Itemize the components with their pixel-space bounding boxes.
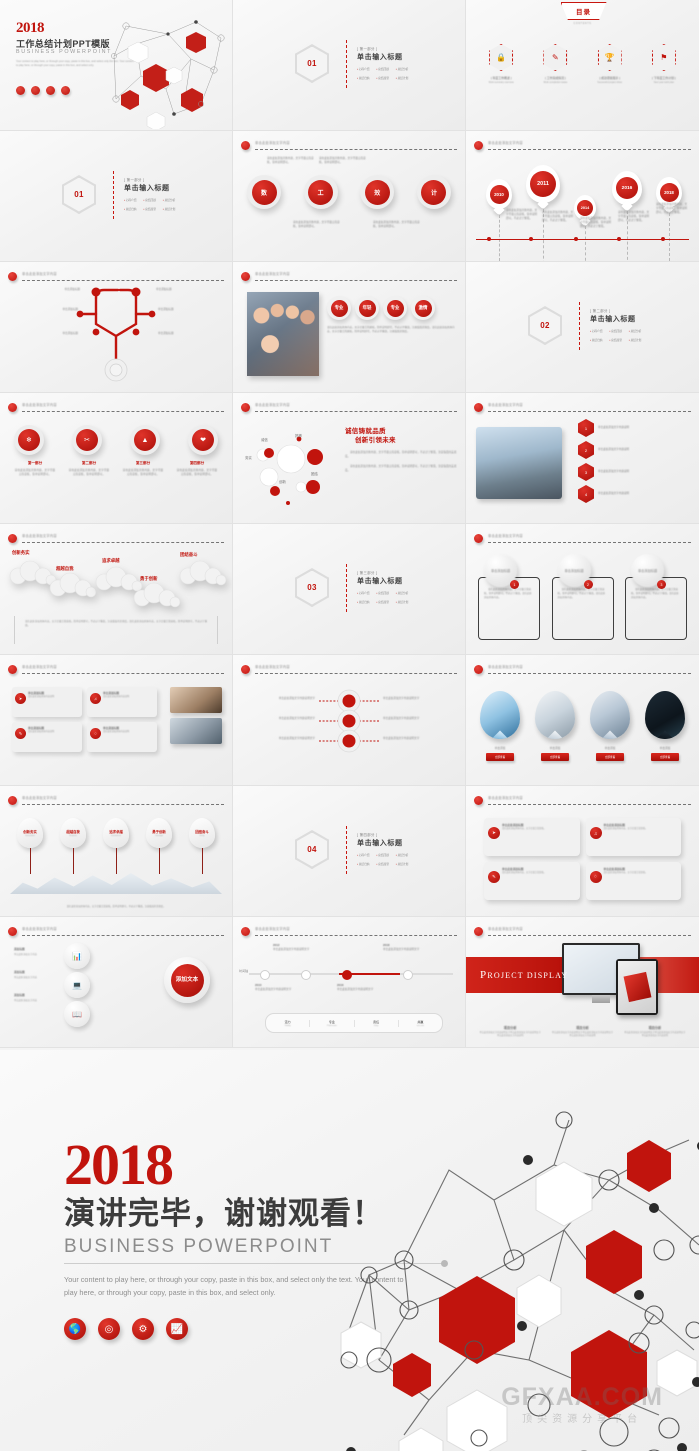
circle-flow-graphic xyxy=(233,655,466,786)
divider-bullet: 总结计划 xyxy=(629,338,641,342)
slide-header-label: 单击此处添加文字内容 xyxy=(255,926,290,931)
chart-icon[interactable]: 📊 xyxy=(64,943,90,969)
timeline-year: 2016 xyxy=(616,177,638,199)
mountain-caption: 请在此处添加具体内容，文字尽量言简意赅，简单说明即可，不必过于繁琐，注意版面的美… xyxy=(36,906,196,910)
three-card-row: 单击添加标题 1 请在此处添加具体内容，文字尽量言简意赅，简单说明即可，不必过于… xyxy=(478,554,687,640)
divider-title: 单击输入标题 xyxy=(357,576,408,586)
htimeline-label: 2012 单击此处添加文字内容说明文字 xyxy=(273,943,313,952)
add-text-button[interactable]: 添加文本 xyxy=(164,957,210,1003)
cloud-label: 团结奋斗 xyxy=(180,552,198,558)
globe-icon xyxy=(16,86,25,95)
mountain-pin[interactable]: 创新务实 Innovation xyxy=(12,818,48,874)
addtext-node-column: 📊 💻 📖 xyxy=(64,943,90,1027)
circleflow-caption: 单击此处添加文字内容说明文字 xyxy=(271,697,315,701)
slide-header-label: 单击此处添加文字内容 xyxy=(488,664,523,669)
tree-label: 单击添加标题 xyxy=(38,332,78,336)
feature-card[interactable]: ➤ 单击此处添加标题 请在此处添加具体内容，文字尽量言简意赅。 xyxy=(484,818,580,856)
slide-thumb-balloon-photos[interactable]: 单击此处添加文字内容 单击添加 立即查看 单击添加 立即查看 单击添加 立即查 xyxy=(466,655,699,786)
icon-circle-body: 请在此处添加具体内容，文字尽量言简意赅，简单说明即可。 xyxy=(176,469,218,477)
divider-bullet: 总结回顾 xyxy=(376,853,388,857)
header-dot-icon xyxy=(8,403,17,412)
slide-thumb-mountain-pins[interactable]: 单击此处添加文字内容 创新务实 Innovation 超越自我 Surpass … xyxy=(0,786,233,917)
header-dot-icon xyxy=(474,534,483,543)
card-body: 请在此处添加具体内容，文字尽量言简意赅，简单说明即可，不必过于繁琐。请在此处添加… xyxy=(558,588,608,600)
slide-thumb-four-circles[interactable]: 单击此处添加文字内容 数 工 效 计 请在此处添加具体内容，文字尽量言简意赅，简… xyxy=(233,131,466,262)
divider-bullets-row1: 心得介绍 总结回顾 总结分析 xyxy=(357,591,408,595)
hex-list-item[interactable]: 4 单击此处添加文字内容说明 xyxy=(578,485,629,503)
balloon-photo xyxy=(535,691,575,739)
divider-bullet: 总结回顾 xyxy=(376,67,388,71)
cup-icon: ♢ xyxy=(590,871,602,883)
balloon-photo-button[interactable]: 立即查看 xyxy=(651,753,679,761)
pin-sub: Innovation xyxy=(25,835,35,837)
slide-thumb-horizontal-timeline[interactable]: 单击此处添加文字内容 时间轴 2012 单击此处添加文字内容说明文字 2018 … xyxy=(233,917,466,1048)
header-dot-icon xyxy=(8,927,17,936)
divider-title: 单击输入标题 xyxy=(590,314,641,324)
divider-bullets-row1: 心得介绍 总结回顾 总结分析 xyxy=(357,853,408,857)
timeline-axis xyxy=(476,239,689,240)
pill-bar: 活力 Vitality 专业 Profession 责任 Duty 共赢 Win… xyxy=(265,1013,443,1033)
mountain-pin[interactable]: 超越自我 Surpass xyxy=(55,818,91,874)
divider-bullets-row2: 总结归纳 总结展望 总结计划 xyxy=(357,76,408,80)
mountain-pin-row: 创新务实 Innovation 超越自我 Surpass 追求卓越 Excell… xyxy=(12,818,220,874)
toc-item-label: [ 工作完成情况 ] xyxy=(531,76,579,80)
header-dot-icon xyxy=(474,665,483,674)
slide-thumb-quote[interactable]: 单击此处添加文字内容 诚信 务实 拼搏 创新 团结 诚信铸就品质 xyxy=(233,393,466,524)
chart-icon[interactable]: 📈 xyxy=(166,1318,188,1340)
divider-number-hex: 02 xyxy=(528,306,562,345)
header-divider xyxy=(488,935,691,936)
feature-card-title: 单击此处添加标题 xyxy=(502,867,575,871)
balloon-photo xyxy=(645,691,685,739)
circle-item[interactable]: ❤ xyxy=(188,425,218,455)
balloon-photo-button[interactable]: 立即查看 xyxy=(486,753,514,761)
icon-card-title: 单击添加标题 xyxy=(28,691,78,695)
divider-bullet: 总结分析 xyxy=(396,853,408,857)
mountain-pin[interactable]: 追求卓越 Excellence xyxy=(98,818,134,874)
scenic-photo xyxy=(476,427,562,499)
bubble-label: 务实 xyxy=(245,455,252,460)
divider-bullet: 总结归纳 xyxy=(357,600,369,604)
ppt-template-preview-page: 2018 工作总结计划PPT模版 BUSINESS POWERPOINT You… xyxy=(0,0,699,1451)
icon-card-body: 请在此处添加具体内容说明 xyxy=(28,731,78,734)
htimeline-axis-label: 时间轴 xyxy=(239,969,248,973)
slide-thumb-clouds[interactable]: 单击此处添加文字内容 xyxy=(0,524,233,655)
hero-icon-row: 🌎 ◎ ⚙ 📈 xyxy=(64,1318,188,1340)
feature-card-body: 请在此处添加具体内容，文字尽量言简意赅。 xyxy=(604,872,677,876)
header-dot-icon xyxy=(8,534,17,543)
info-card[interactable]: 单击添加标题 3 请在此处添加具体内容，文字尽量言简意赅，简单说明即可，不必过于… xyxy=(625,554,687,640)
pill-segment[interactable]: 活力 Vitality xyxy=(266,1020,310,1027)
hex-list-item[interactable]: 3 单击此处添加文字内容说明 xyxy=(578,463,629,481)
divider-bullets-row2: 总结归纳 总结展望 总结计划 xyxy=(357,600,408,604)
header-divider xyxy=(488,542,691,543)
globe-icon[interactable]: 🌎 xyxy=(64,1318,86,1340)
slide-thumb-team[interactable]: 单击此处添加文字内容 专业 年轻 专业 激情 请在此处添加具体内容，文字尽量言简… xyxy=(233,262,466,393)
trophy-icon: 🏆 xyxy=(598,44,622,71)
addtext-caption: 添加标题 单击此处添加文字内容 xyxy=(14,947,37,956)
divider-bullets-row1: 心得介绍 总结回顾 总结分析 xyxy=(590,329,641,333)
team-tag[interactable]: 激情 xyxy=(411,296,435,320)
divider-kicker: [ 第一部分 ] xyxy=(357,46,408,51)
divider-bullet: 心得介绍 xyxy=(357,591,369,595)
bubble-label: 诚信 xyxy=(261,437,268,442)
slide-thumb-divider-04[interactable]: 04 [ 第四部分 ] 单击输入标题 心得介绍 总结回顾 总结分析 总结归纳 总… xyxy=(233,786,466,917)
leaf-icon: ❄ xyxy=(18,429,40,451)
hex-list-text: 单击此处添加文字内容说明 xyxy=(598,426,629,430)
hex-list-item[interactable]: 2 单击此处添加文字内容说明 xyxy=(578,441,629,459)
rocket-icon: ▲ xyxy=(134,429,156,451)
team-tag[interactable]: 专业 xyxy=(383,296,407,320)
divider-bullet: 心得介绍 xyxy=(357,67,369,71)
divider-bullet: 总结展望 xyxy=(609,338,621,342)
balloon-photo xyxy=(590,691,630,739)
balloon-photo xyxy=(480,691,520,739)
bubble-label: 拼搏 xyxy=(295,433,302,438)
photo-thumbnail xyxy=(170,718,222,744)
toc-item[interactable]: 🏆 [ 成功项目展示 ] Successful project show xyxy=(586,44,634,84)
quote-title-line1: 诚信铸就品质 xyxy=(345,427,457,436)
info-card[interactable]: 单击添加标题 1 请在此处添加具体内容，文字尽量言简意赅，简单说明即可，不必过于… xyxy=(478,554,540,640)
slide-thumb-divider-01[interactable]: 01 [ 第一部分 ] 单击输入标题 心得介绍 总结回顾 总结分析 总结归纳 总… xyxy=(233,0,466,131)
pen-icon: ✎ xyxy=(543,44,567,71)
pin-title: 勇于创新 xyxy=(152,829,166,834)
divider-number: 03 xyxy=(297,571,327,605)
slide-header-label: 单击此处添加文字内容 xyxy=(22,533,57,538)
divider-number-hex: 03 xyxy=(295,568,329,607)
toc-item-label: [ 下年度工作计划 ] xyxy=(640,76,688,80)
divider-number: 01 xyxy=(297,47,327,81)
slide-header-label: 单击此处添加文字内容 xyxy=(488,533,523,538)
timeline-marker[interactable]: 2011 xyxy=(526,165,560,203)
music-icon: ♫ xyxy=(590,827,602,839)
htimeline-label: 2010 单击此处添加文字内容说明文字 xyxy=(255,983,295,992)
toc-item[interactable]: 🔒 [ 年度工作概述 ] Work summary overview xyxy=(477,44,525,84)
gear-icon[interactable]: ⚙ xyxy=(132,1318,154,1340)
hex-bullet-icon: 4 xyxy=(578,485,594,503)
header-divider xyxy=(22,542,224,543)
divider-text: [ 第二部分 ] 单击输入标题 心得介绍 总结回顾 总结分析 总结归纳 总结展望… xyxy=(590,308,641,342)
slide-header: 单击此处添加文字内容 xyxy=(474,926,691,938)
circle-icon: 效 xyxy=(365,180,390,205)
toc-banner-label: 目录 xyxy=(576,6,591,16)
pill-segment[interactable]: 专业 Profession xyxy=(310,1020,354,1027)
cloud-body: 请在此处添加具体内容，文字尽量言简意赅，简单说明即可，不必过于繁琐，注意版面的美… xyxy=(15,616,217,632)
toc-item-sub: Work summary overview xyxy=(477,82,525,84)
header-divider xyxy=(255,280,457,281)
target-icon[interactable]: ◎ xyxy=(98,1318,120,1340)
circle-caption: 请在此处添加具体内容，文字尽量言简意赅，简单说明即可。 xyxy=(293,221,343,229)
header-divider xyxy=(22,411,224,412)
project-column: 项目分析 单击此处添加文字内容说明文字单击此处添加文字内容说明文字单击此处添加文… xyxy=(479,1025,541,1039)
htimeline-label: 2016 单击此处添加文字内容说明文字 xyxy=(337,983,377,992)
pen-icon: ✎ xyxy=(488,871,500,883)
icon-card[interactable]: ✎ 单击添加标题 请在此处添加具体内容说明 xyxy=(12,722,82,752)
toc-items: 🔒 [ 年度工作概述 ] Work summary overview ✎ [ 工… xyxy=(474,44,691,84)
divider-bullet: 总结展望 xyxy=(376,862,388,866)
project-title: PROJECT DISPLAY xyxy=(480,969,568,981)
slide-header-label: 单击此处添加文字内容 xyxy=(488,140,523,145)
project-column-body: 单击此处添加文字内容说明文字单击此处添加文字内容说明文字单击此处添加文字内容说明 xyxy=(624,1032,686,1039)
header-divider xyxy=(255,411,457,412)
info-card[interactable]: 单击添加标题 2 请在此处添加具体内容，文字尽量言简意赅，简单说明即可，不必过于… xyxy=(552,554,614,640)
timeline-marker[interactable]: 2016 xyxy=(612,171,642,205)
circle-item[interactable]: 工 xyxy=(304,175,338,209)
circleflow-caption: 单击此处添加文字内容说明文字 xyxy=(383,697,427,701)
team-tag[interactable]: 年轻 xyxy=(355,296,379,320)
balloon-photo-item[interactable]: 单击添加 立即查看 xyxy=(533,691,577,761)
team-photo xyxy=(247,292,319,376)
slide-thumb-circle-flow[interactable]: 单击此处添加文字内容 单击此处添加文字内容说明文字 单击此处添加文字内容说明文字… xyxy=(233,655,466,786)
balloon-photo-label: 单击添加 xyxy=(588,746,632,750)
card-badge: 2 xyxy=(584,580,593,589)
slide-thumb-divider-01-alt[interactable]: 01 [ 第一部分 ] 单击输入标题 心得介绍 总结回顾 总结分析 总结归纳 总… xyxy=(0,131,233,262)
divider-bullet: 心得介绍 xyxy=(357,853,369,857)
hex-list-text: 单击此处添加文字内容说明 xyxy=(598,448,629,452)
divider-bullet: 总结分析 xyxy=(396,591,408,595)
divider-rule xyxy=(346,826,347,874)
divider-kicker: [ 第三部分 ] xyxy=(357,570,408,575)
project-column-body: 单击此处添加文字内容说明文字单击此处添加文字内容说明文字单击此处添加文字内容说明 xyxy=(479,1032,541,1039)
icon-card-title: 单击添加标题 xyxy=(103,691,153,695)
divider-bullet: 总结归纳 xyxy=(590,338,602,342)
slide-thumb-three-cards[interactable]: 单击此处添加文字内容 单击添加标题 1 请在此处添加具体内容，文字尽量言简意赅，… xyxy=(466,524,699,655)
timeline-caption: 请在此处添加具体内容，文字尽量言简意赅，简单说明即可，不必过于繁琐。 xyxy=(580,217,612,229)
slide-header: 单击此处添加文字内容 xyxy=(8,402,224,414)
toc-item[interactable]: ✎ [ 工作完成情况 ] Work completion status xyxy=(531,44,579,84)
circle-item[interactable]: 计 xyxy=(417,175,451,209)
balloon-photo-button[interactable]: 立即查看 xyxy=(541,753,569,761)
icon-card-title: 单击添加标题 xyxy=(28,726,78,730)
hero-subhead: BUSINESS POWERPOINT xyxy=(64,1236,333,1258)
feature-card[interactable]: ♢ 单击此处添加标题 请在此处添加具体内容，文字尽量言简意赅。 xyxy=(586,862,682,900)
mountain-pin[interactable]: 团结奋斗 Unity xyxy=(184,818,220,874)
cloud-label: 超越自我 xyxy=(56,566,74,572)
slide-thumb-year-timeline[interactable]: 单击此处添加文字内容 2010 2011 2014 2016 xyxy=(466,131,699,262)
timeline-year: 2014 xyxy=(577,200,593,216)
icon-circle-title: 第一部分 xyxy=(14,461,56,466)
feature-card[interactable]: ✎ 单击此处添加标题 请在此处添加具体内容，文字尽量言简意赅。 xyxy=(484,862,580,900)
project-column-body: 单击此处添加文字内容说明文字单击此处添加文字内容说明文字单击此处添加文字内容说明 xyxy=(551,1032,613,1039)
project-column-title: 项目分析 xyxy=(551,1025,613,1030)
toc-item-label: [ 年度工作概述 ] xyxy=(477,76,525,80)
pill-segment[interactable]: 共赢 Win-win xyxy=(399,1020,442,1027)
feature-card-title: 单击此处添加标题 xyxy=(604,867,677,871)
circle-item[interactable]: 数 xyxy=(247,175,281,209)
project-column-title: 项目分析 xyxy=(479,1025,541,1030)
slide-thumb-cover[interactable]: 2018 工作总结计划PPT模版 BUSINESS POWERPOINT You… xyxy=(0,0,233,131)
project-title-rest: ROJECT DISPLAY xyxy=(487,971,568,980)
divider-bullet: 总结分析 xyxy=(163,198,175,202)
cloud-shape xyxy=(176,560,228,586)
hex-list-text: 单击此处添加文字内容说明 xyxy=(598,470,629,474)
team-tag[interactable]: 专业 xyxy=(327,296,351,320)
divider-bullets-row2: 总结归纳 总结展望 总结计划 xyxy=(357,862,408,866)
feature-card-title: 单击此处添加标题 xyxy=(502,823,575,827)
slide-header: 单击此处添加文字内容 xyxy=(8,926,224,938)
pin-sub: Excellence xyxy=(111,835,121,837)
lock-icon: 🔒 xyxy=(489,44,513,71)
card-badge: 3 xyxy=(657,580,666,589)
card-body: 请在此处添加具体内容，文字尽量言简意赅，简单说明即可，不必过于繁琐。请在此处添加… xyxy=(484,588,534,600)
bubble-cluster-graphic xyxy=(243,425,343,509)
send-icon: ➤ xyxy=(15,693,26,704)
circleflow-caption: 单击此处添加文字内容说明文字 xyxy=(383,717,427,721)
divider-bullet: 总结展望 xyxy=(376,76,388,80)
divider-bullet: 总结计划 xyxy=(396,862,408,866)
header-divider xyxy=(22,935,224,936)
addtext-caption-body: 单击此处添加文字内容 xyxy=(14,998,37,1002)
slide-thumb-tree-flow[interactable]: 单击此处添加文字内容 xyxy=(0,262,233,393)
balloon-photo-item[interactable]: 单击添加 立即查看 xyxy=(588,691,632,761)
timeline-year: 2010 xyxy=(490,185,509,204)
header-divider xyxy=(22,804,224,805)
slide-thumb-divider-03[interactable]: 03 [ 第三部分 ] 单击输入标题 心得介绍 总结回顾 总结分析 总结归纳 总… xyxy=(233,524,466,655)
pin-title: 团结奋斗 xyxy=(195,829,209,834)
htimeline-text: 单击此处添加文字内容说明文字 xyxy=(255,988,291,991)
bubble-label: 创新 xyxy=(279,479,286,484)
balloon-photo-label: 单击添加 xyxy=(533,746,577,750)
hexagon-network-graphic xyxy=(96,4,233,129)
hex-list-item[interactable]: 1 单击此处添加文字内容说明 xyxy=(578,419,629,437)
team-tag-row: 专业 年轻 专业 激情 xyxy=(327,296,457,320)
circle-item[interactable]: ✂ xyxy=(72,425,102,455)
divider-bullets-row1: 心得介绍 总结回顾 总结分析 xyxy=(357,67,408,71)
music-icon: ♫ xyxy=(90,693,101,704)
pin-sub: Surpass xyxy=(69,835,77,837)
slide-header: 单击此处添加文字内容 xyxy=(474,533,691,545)
slide-thumb-icon-cards[interactable]: 单击此处添加文字内容 ➤ 单击添加标题 请在此处添加具体内容说明 ♫ 单击添加标… xyxy=(0,655,233,786)
icon-card[interactable]: ♫ 单击添加标题 请在此处添加具体内容说明 xyxy=(87,687,157,717)
htimeline-text: 单击此处添加文字内容说明文字 xyxy=(273,948,309,951)
team-body: 请在此处添加具体内容，文字尽量言简意赅，简单说明即可，不必过于繁琐，注意版面美观… xyxy=(327,326,455,334)
slide-thumb-contents[interactable]: 目录 CONTENTS 🔒 [ 年度工作概述 ] Work summary ov… xyxy=(466,0,699,131)
timeline-marker[interactable]: 2010 xyxy=(486,179,512,209)
divider-bullets-row1: 心得介绍 总结回顾 总结分析 xyxy=(124,198,175,202)
divider-bullet: 总结归纳 xyxy=(124,207,136,211)
slide-thumb-hex-list[interactable]: 单击此处添加文字内容 1 单击此处添加文字内容说明 2 单击此处添加文字内容说明… xyxy=(466,393,699,524)
circle-item[interactable]: 效 xyxy=(360,175,394,209)
divider-title: 单击输入标题 xyxy=(357,838,408,848)
divider-bullet: 总结回顾 xyxy=(609,329,621,333)
tree-diagram-graphic xyxy=(0,262,233,393)
icon-circle-title: 第二部分 xyxy=(68,461,110,466)
toc-item-sub: Next year work plan xyxy=(640,82,688,84)
circle-item[interactable]: ▲ xyxy=(130,425,160,455)
heart-icon: ❤ xyxy=(192,429,214,451)
toc-banner-sub: CONTENTS xyxy=(561,22,605,25)
tree-label: 单击添加标题 xyxy=(158,308,198,312)
hex-list: 1 单击此处添加文字内容说明 2 单击此处添加文字内容说明 3 单击此处添加文字… xyxy=(578,419,629,507)
book-icon[interactable]: 📖 xyxy=(64,1001,90,1027)
circle-item[interactable]: ❄ xyxy=(14,425,44,455)
header-dot-icon xyxy=(241,403,250,412)
divider-number: 02 xyxy=(530,309,560,343)
project-column: 项目分析 单击此处添加文字内容说明文字单击此处添加文字内容说明文字单击此处添加文… xyxy=(624,1025,686,1039)
circle-caption: 请在此处添加具体内容，文字尽量言简意赅，简单说明即可。 xyxy=(267,157,317,165)
card-badge: 1 xyxy=(510,580,519,589)
slide-header: 单击此处添加文字内容 xyxy=(8,533,224,545)
project-column-title: 项目分析 xyxy=(624,1025,686,1030)
hex-list-text: 单击此处添加文字内容说明 xyxy=(598,492,629,496)
toc-item[interactable]: ⚑ [ 下年度工作计划 ] Next year work plan xyxy=(640,44,688,84)
pill-segment[interactable]: 责任 Duty xyxy=(355,1020,399,1027)
balloon-photo-button[interactable]: 立即查看 xyxy=(596,753,624,761)
header-divider xyxy=(22,673,224,674)
icon-circle-labels: 第一部分 请在此处添加具体内容，文字尽量言简意赅，简单说明即可。 第二部分 请在… xyxy=(14,461,218,477)
timeline-caption: 请在此处添加具体内容，文字尽量言简意赅，简单说明即可，不必过于繁琐。 xyxy=(542,211,574,223)
pill-sub: Win-win xyxy=(399,1025,442,1027)
slide-thumb-four-cards[interactable]: 单击此处添加文字内容 ➤ 单击此处添加标题 请在此处添加具体内容，文字尽量言简意… xyxy=(466,786,699,917)
toc-banner: 目录 CONTENTS xyxy=(561,2,605,24)
slide-thumb-project-display[interactable]: 单击此处添加文字内容 PROJECT DISPLAY 项目分析 单击此处添加文字… xyxy=(466,917,699,1048)
icon-card[interactable]: ➤ 单击添加标题 请在此处添加具体内容说明 xyxy=(12,687,82,717)
feature-card[interactable]: ♫ 单击此处添加标题 请在此处添加具体内容，文字尽量言简意赅。 xyxy=(586,818,682,856)
mountain-pin[interactable]: 勇于创新 Courage xyxy=(141,818,177,874)
slide-thumb-icon-circles[interactable]: 单击此处添加文字内容 ❄ ✂ ▲ ❤ 第一部分 请在此处添加具体内容，文字尽量言… xyxy=(0,393,233,524)
icon-card-title: 单击添加标题 xyxy=(103,726,153,730)
pin-title: 创新务实 xyxy=(23,829,37,834)
addtext-caption-title: 添加标题 xyxy=(14,970,37,974)
toc-item-sub: Successful project show xyxy=(586,82,634,84)
divider-title: 单击输入标题 xyxy=(357,52,408,62)
header-dot-icon xyxy=(474,141,483,150)
divider-text: [ 第四部分 ] 单击输入标题 心得介绍 总结回顾 总结分析 总结归纳 总结展望… xyxy=(357,832,408,866)
divider-bullet: 总结展望 xyxy=(376,600,388,604)
divider-rule xyxy=(113,171,114,219)
slide-header: 单击此处添加文字内容 xyxy=(474,795,691,807)
slide-header-label: 单击此处添加文字内容 xyxy=(255,140,290,145)
pill-title: 责任 xyxy=(355,1020,398,1024)
hero-closing-slide[interactable]: 2018 演讲完毕，谢谢观看！ BUSINESS POWERPOINT Your… xyxy=(0,1050,699,1451)
icon-circle-body: 请在此处添加具体内容，文字尽量言简意赅，简单说明即可。 xyxy=(122,469,164,477)
balloon-photo-item[interactable]: 单击添加 立即查看 xyxy=(643,691,687,761)
team-tag-label: 专业 xyxy=(331,300,348,317)
slide-header-label: 单击此处添加文字内容 xyxy=(22,795,57,800)
laptop-icon[interactable]: 💻 xyxy=(64,972,90,998)
icon-card-body: 请在此处添加具体内容说明 xyxy=(28,696,78,699)
header-divider xyxy=(488,411,691,412)
slide-header-label: 单击此处添加文字内容 xyxy=(488,795,523,800)
slide-header: 单击此处添加文字内容 xyxy=(241,926,457,938)
tree-label: 单击添加标题 xyxy=(38,308,78,312)
slide-thumb-add-text[interactable]: 单击此处添加文字内容 添加标题 单击此处添加文字内容 添加标题 单击此处添加文字… xyxy=(0,917,233,1048)
pill-sub: Duty xyxy=(355,1025,398,1027)
slide-header: 单击此处添加文字内容 xyxy=(241,402,457,414)
balloon-photo-item[interactable]: 单击添加 立即查看 xyxy=(478,691,522,761)
icon-card-body: 请在此处添加具体内容说明 xyxy=(103,696,153,699)
pin-title: 追求卓越 xyxy=(109,829,123,834)
header-divider xyxy=(488,149,691,150)
pin-title: 超越自我 xyxy=(66,829,80,834)
htimeline-axis xyxy=(249,973,453,975)
slide-thumb-divider-02[interactable]: 02 [ 第二部分 ] 单击输入标题 心得介绍 总结回顾 总结分析 总结归纳 总… xyxy=(466,262,699,393)
divider-kicker: [ 第一部分 ] xyxy=(124,177,175,182)
chart-icon xyxy=(61,86,70,95)
divider-bullet: 总结回顾 xyxy=(376,591,388,595)
circle-caption: 请在此处添加具体内容，文字尽量言简意赅，简单说明即可。 xyxy=(319,157,369,165)
divider-number-hex: 04 xyxy=(295,830,329,869)
circleflow-caption: 单击此处添加文字内容说明文字 xyxy=(271,717,315,721)
photo-stack xyxy=(170,687,222,744)
slide-header: 单击此处添加文字内容 xyxy=(8,795,224,807)
feature-card-body: 请在此处添加具体内容，文字尽量言简意赅。 xyxy=(502,828,575,832)
cloud-shape xyxy=(130,582,182,608)
timeline-caption: 请在此处添加具体内容，文字尽量言简意赅，简单说明即可，不必过于繁琐。 xyxy=(618,211,650,223)
photo-thumbnail xyxy=(170,687,222,713)
icon-card[interactable]: ♢ 单击添加标题 请在此处添加具体内容说明 xyxy=(87,722,157,752)
icon-circle-title: 第三部分 xyxy=(122,461,164,466)
